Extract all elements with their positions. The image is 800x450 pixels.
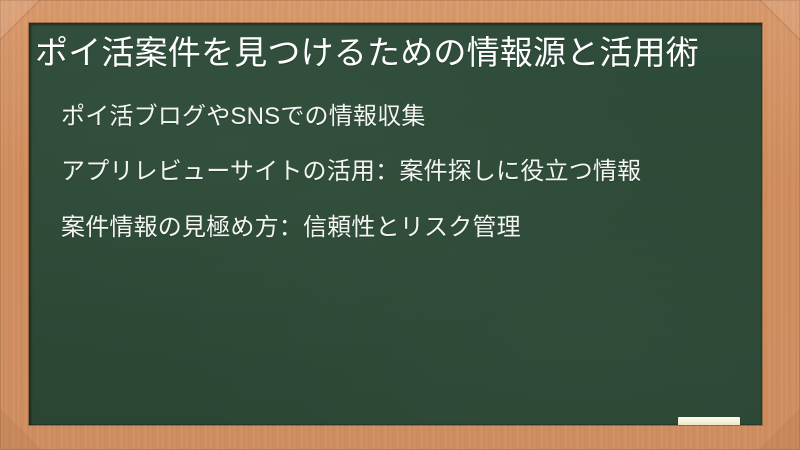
page-title: ポイ活案件を見つけるための情報源と活用術 bbox=[35, 31, 740, 76]
chalkboard-surface: ポイ活案件を見つけるための情報源と活用術 ポイ活ブログやSNSでの情報収集 アプ… bbox=[29, 23, 762, 425]
topic-list: ポイ活ブログやSNSでの情報収集 アプリレビューサイトの活用：案件探しに役立つ情… bbox=[35, 100, 740, 245]
chalkboard-wooden-frame: ポイ活案件を見つけるための情報源と活用術 ポイ活ブログやSNSでの情報収集 アプ… bbox=[0, 0, 800, 450]
list-item: ポイ活ブログやSNSでの情報収集 bbox=[61, 100, 740, 134]
frame-corner-top-right bbox=[759, 0, 800, 41]
list-item: 案件情報の見極め方：信頼性とリスク管理 bbox=[61, 211, 740, 245]
frame-corner-bottom-right bbox=[759, 409, 800, 450]
chalkboard-content: ポイ活案件を見つけるための情報源と活用術 ポイ活ブログやSNSでの情報収集 アプ… bbox=[29, 23, 762, 245]
chalk-stick-icon bbox=[678, 417, 740, 425]
list-item: アプリレビューサイトの活用：案件探しに役立つ情報 bbox=[61, 155, 740, 189]
